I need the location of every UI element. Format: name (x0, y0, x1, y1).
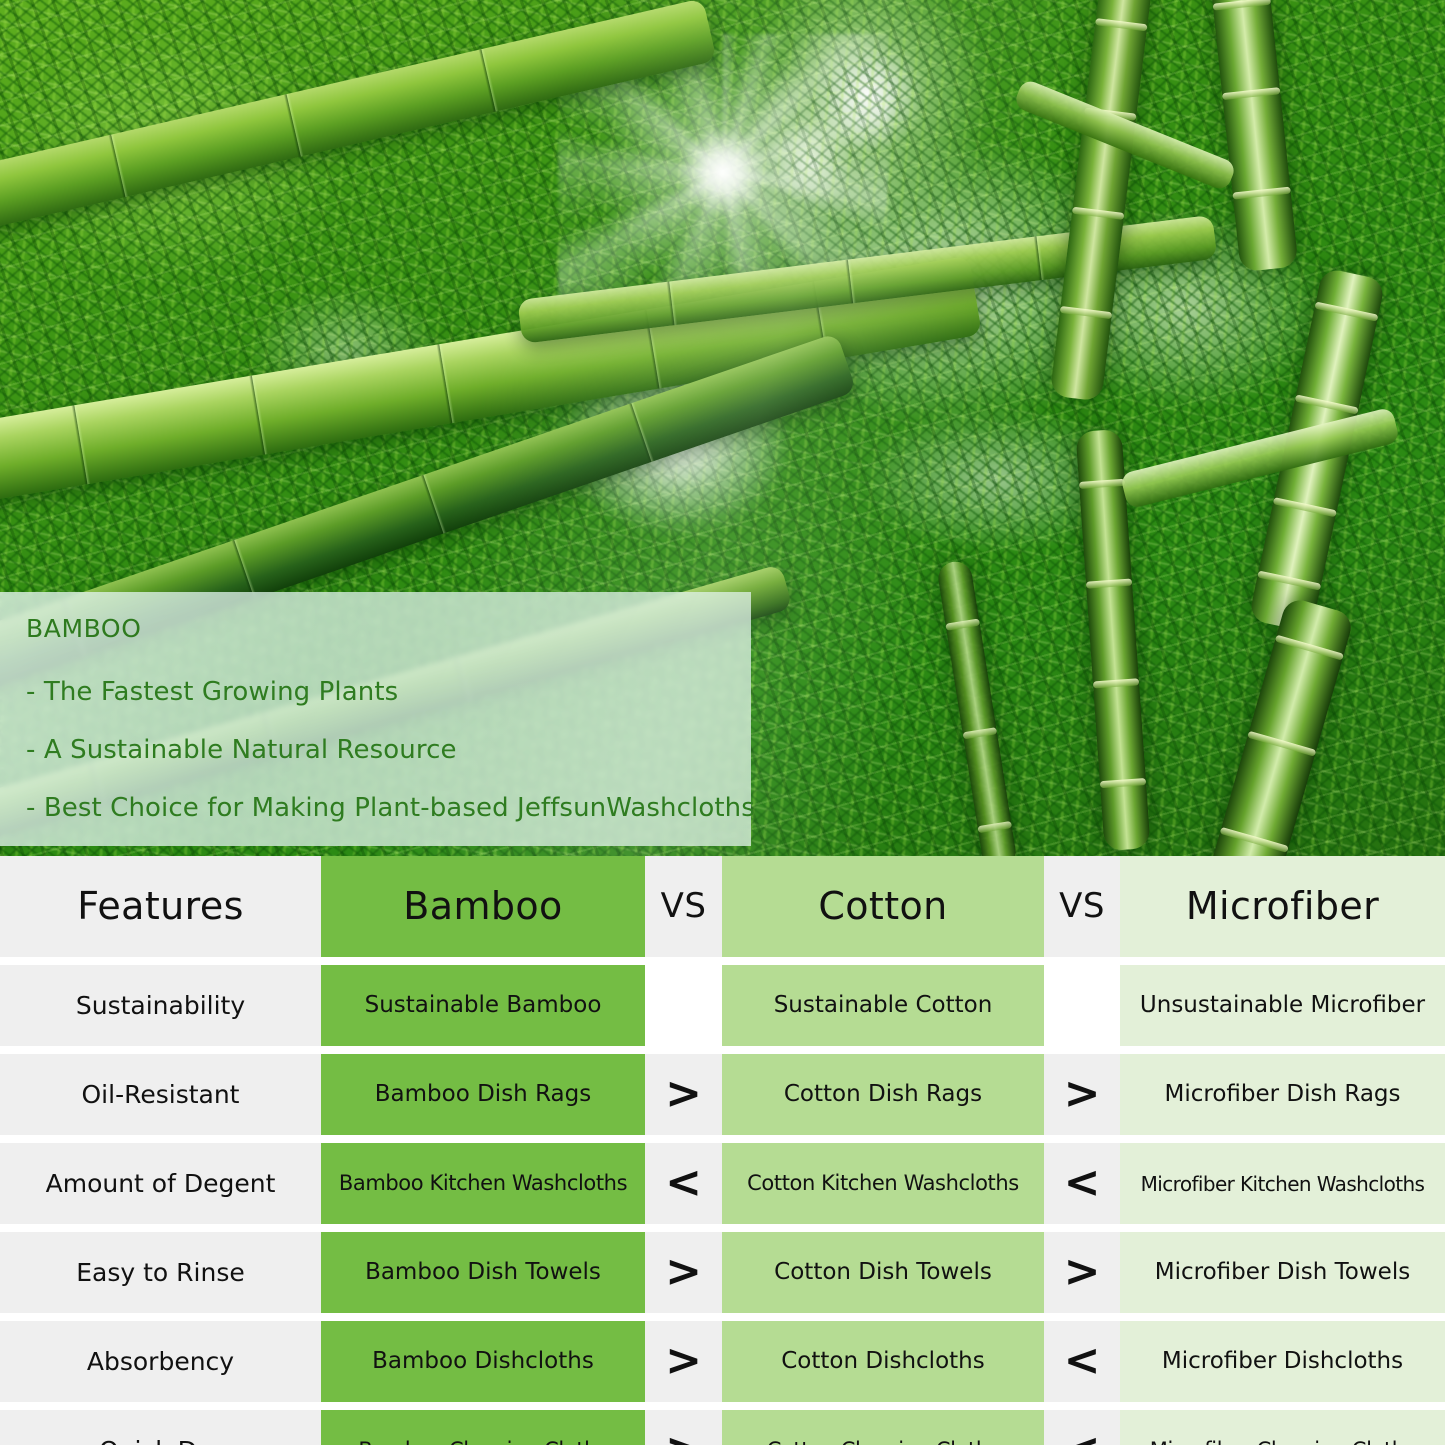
header-cotton: Cotton (722, 856, 1044, 957)
row-operator-1: > (645, 1410, 722, 1445)
row-operator-1 (645, 965, 722, 1046)
row-cotton-value: Cotton Dish Rags (722, 1054, 1044, 1135)
row-operator-2: < (1044, 1410, 1120, 1445)
row-feature-label: Amount of Degent (0, 1143, 321, 1224)
row-cotton-value: Cotton Dish Towels (722, 1232, 1044, 1313)
row-microfiber-value: Microfiber Kitchen Washcloths (1120, 1143, 1445, 1224)
header-microfiber: Microfiber (1120, 856, 1445, 957)
table-row: Quick Dry Bamboo Cleaning Cloths > Cotto… (0, 1410, 1445, 1445)
header-vs-1: VS (645, 856, 722, 957)
row-operator-2: > (1044, 1232, 1120, 1313)
row-microfiber-value: Microfiber Dish Rags (1120, 1054, 1445, 1135)
row-microfiber-value: Microfiber Cleaning Cloths (1120, 1410, 1445, 1445)
table-row: Easy to Rinse Bamboo Dish Towels > Cotto… (0, 1232, 1445, 1313)
row-operator-2: > (1044, 1054, 1120, 1135)
row-operator-2 (1044, 965, 1120, 1046)
table-row: Oil-Resistant Bamboo Dish Rags > Cotton … (0, 1054, 1445, 1135)
row-microfiber-value: Microfiber Dish Towels (1120, 1232, 1445, 1313)
row-feature-label: Absorbency (0, 1321, 321, 1402)
row-bamboo-value: Bamboo Dishcloths (321, 1321, 645, 1402)
table-row: Amount of Degent Bamboo Kitchen Washclot… (0, 1143, 1445, 1224)
row-feature-label: Easy to Rinse (0, 1232, 321, 1313)
header-bamboo: Bamboo (321, 856, 645, 957)
header-vs-2: VS (1044, 856, 1120, 957)
bamboo-forest-photo: BAMBOO - The Fastest Growing Plants - A … (0, 0, 1445, 856)
row-cotton-value: Cotton Dishcloths (722, 1321, 1044, 1402)
panel-bullet-1: - The Fastest Growing Plants (26, 677, 725, 707)
row-bamboo-value: Bamboo Dish Towels (321, 1232, 645, 1313)
row-microfiber-value: Microfiber Dishcloths (1120, 1321, 1445, 1402)
panel-bullet-2: - A Sustainable Natural Resource (26, 735, 725, 765)
table-row: Sustainability Sustainable Bamboo Sustai… (0, 965, 1445, 1046)
panel-bullet-3: - Best Choice for Making Plant-based Jef… (26, 793, 725, 823)
row-cotton-value: Cotton Cleaning Cloths (722, 1410, 1044, 1445)
row-operator-2: < (1044, 1143, 1120, 1224)
row-feature-label: Quick Dry (0, 1410, 321, 1445)
row-bamboo-value: Bamboo Cleaning Cloths (321, 1410, 645, 1445)
row-bamboo-value: Bamboo Dish Rags (321, 1054, 645, 1135)
row-microfiber-value: Unsustainable Microfiber (1120, 965, 1445, 1046)
comparison-table: Features Bamboo VS Cotton VS Microfiber … (0, 856, 1445, 1445)
row-operator-1: > (645, 1232, 722, 1313)
row-bamboo-value: Sustainable Bamboo (321, 965, 645, 1046)
bamboo-info-panel: BAMBOO - The Fastest Growing Plants - A … (0, 592, 751, 846)
table-header-row: Features Bamboo VS Cotton VS Microfiber (0, 856, 1445, 957)
row-feature-label: Sustainability (0, 965, 321, 1046)
row-operator-1: < (645, 1143, 722, 1224)
product-comparison-infographic: BAMBOO - The Fastest Growing Plants - A … (0, 0, 1445, 1445)
header-features: Features (0, 856, 321, 957)
row-cotton-value: Sustainable Cotton (722, 965, 1044, 1046)
row-operator-1: > (645, 1321, 722, 1402)
table-row: Absorbency Bamboo Dishcloths > Cotton Di… (0, 1321, 1445, 1402)
row-operator-1: > (645, 1054, 722, 1135)
row-cotton-value: Cotton Kitchen Washcloths (722, 1143, 1044, 1224)
panel-title: BAMBOO (26, 614, 725, 643)
row-operator-2: < (1044, 1321, 1120, 1402)
row-feature-label: Oil-Resistant (0, 1054, 321, 1135)
row-bamboo-value: Bamboo Kitchen Washcloths (321, 1143, 645, 1224)
